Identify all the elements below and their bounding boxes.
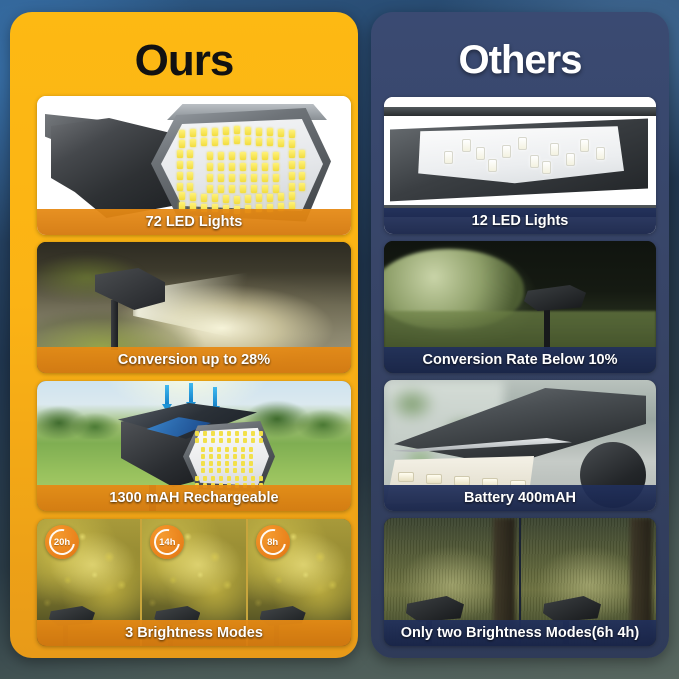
led <box>229 163 235 171</box>
led <box>195 438 199 443</box>
led <box>251 174 257 182</box>
led <box>207 174 213 182</box>
led <box>203 476 207 481</box>
led <box>240 163 246 171</box>
led <box>207 152 213 160</box>
led <box>187 172 193 180</box>
led <box>251 185 257 193</box>
others-panel: Others 12 LED Lights Conversion Ra <box>371 12 669 658</box>
led <box>289 172 295 180</box>
led <box>278 139 284 147</box>
ours-label-brightness: 3 Brightness Modes <box>37 620 351 646</box>
led <box>207 185 213 193</box>
led <box>211 476 215 481</box>
ours-panel-title: Ours <box>10 36 358 86</box>
sun-arrow-icon <box>165 385 169 405</box>
led <box>235 476 239 481</box>
led <box>289 192 295 200</box>
led <box>262 152 268 160</box>
led <box>299 161 305 169</box>
others-label-brightness: Only two Brightness Modes(6h 4h) <box>384 620 656 646</box>
led <box>211 431 215 436</box>
led <box>187 183 193 191</box>
led <box>273 185 279 193</box>
led <box>398 472 414 482</box>
others-label-battery: Battery 400mAH <box>384 485 656 511</box>
led <box>476 147 485 160</box>
others-card-brightness: Only two Brightness Modes(6h 4h) <box>384 518 656 646</box>
led <box>550 143 559 156</box>
led <box>227 476 231 481</box>
led <box>219 431 223 436</box>
led <box>235 431 239 436</box>
led <box>267 194 273 202</box>
led <box>218 174 224 182</box>
led <box>203 431 207 436</box>
led <box>502 145 511 158</box>
ours-label-led-count: 72 LED Lights <box>37 209 351 235</box>
led <box>518 137 527 150</box>
led <box>179 192 185 200</box>
led <box>566 153 575 166</box>
ours-card-battery: 1300 mAH Rechargeable <box>37 381 351 511</box>
led <box>596 147 605 160</box>
led <box>234 126 240 134</box>
led <box>444 151 453 164</box>
led <box>209 454 213 459</box>
led <box>249 461 253 466</box>
led <box>256 138 262 146</box>
led <box>289 140 295 148</box>
led <box>177 172 183 180</box>
led <box>240 152 246 160</box>
led <box>212 128 218 136</box>
led <box>259 438 263 443</box>
led <box>217 454 221 459</box>
runtime-badge-label: 8h <box>267 537 278 548</box>
led <box>426 474 442 484</box>
led <box>209 461 213 466</box>
led <box>225 447 229 452</box>
led <box>251 476 255 481</box>
others-card-conversion: Conversion Rate Below 10% <box>384 241 656 373</box>
led <box>233 447 237 452</box>
led <box>251 438 255 443</box>
led <box>217 461 221 466</box>
led <box>299 172 305 180</box>
led <box>245 127 251 135</box>
led <box>234 136 240 144</box>
led <box>273 163 279 171</box>
led <box>219 476 223 481</box>
led <box>179 140 185 148</box>
led <box>201 128 207 136</box>
runtime-badge-label: 14h <box>159 537 175 548</box>
led <box>190 129 196 137</box>
led <box>227 438 231 443</box>
led <box>223 127 229 135</box>
led <box>233 468 237 473</box>
led <box>207 163 213 171</box>
led <box>235 438 239 443</box>
led <box>211 438 215 443</box>
led <box>177 150 183 158</box>
led <box>201 454 205 459</box>
led <box>195 476 199 481</box>
led <box>209 468 213 473</box>
led <box>245 137 251 145</box>
led <box>243 476 247 481</box>
led <box>289 183 295 191</box>
others-label-conversion: Conversion Rate Below 10% <box>384 347 656 373</box>
led <box>243 431 247 436</box>
ours-label-battery: 1300 mAH Rechargeable <box>37 485 351 511</box>
runtime-badge-8h: 8h <box>256 525 290 559</box>
led <box>177 183 183 191</box>
led <box>201 468 205 473</box>
led <box>229 185 235 193</box>
led <box>240 185 246 193</box>
others-panel-title: Others <box>371 38 669 83</box>
led <box>225 454 229 459</box>
runtime-badge-label: 20h <box>54 537 70 548</box>
led <box>233 461 237 466</box>
led <box>542 161 551 174</box>
led <box>249 447 253 452</box>
led <box>229 174 235 182</box>
led <box>243 438 247 443</box>
ours-card-conversion: Conversion up to 28% <box>37 242 351 373</box>
led <box>267 128 273 136</box>
ours-panel: Ours 72 LED Lights <box>10 12 358 658</box>
sun-arrow-icon <box>213 387 217 407</box>
led <box>187 150 193 158</box>
led <box>299 150 305 158</box>
led <box>289 130 295 138</box>
led <box>251 163 257 171</box>
others-card-battery: Battery 400mAH <box>384 380 656 511</box>
runtime-badge-20h: 20h <box>45 525 79 559</box>
led <box>227 431 231 436</box>
led <box>249 468 253 473</box>
led <box>218 185 224 193</box>
led <box>241 447 245 452</box>
led <box>218 152 224 160</box>
led <box>229 152 235 160</box>
led <box>223 195 229 203</box>
led <box>190 139 196 147</box>
led <box>195 431 199 436</box>
led <box>201 194 207 202</box>
led <box>488 159 497 172</box>
sun-arrow-icon <box>189 383 193 403</box>
led <box>218 163 224 171</box>
led <box>245 195 251 203</box>
led <box>212 194 218 202</box>
led <box>225 468 229 473</box>
led <box>278 193 284 201</box>
led <box>217 468 221 473</box>
led <box>203 438 207 443</box>
led <box>187 161 193 169</box>
led <box>251 431 255 436</box>
led <box>267 138 273 146</box>
ours-card-led-count: 72 LED Lights <box>37 96 351 235</box>
ours-card-brightness: 20h 14h <box>37 519 351 646</box>
led <box>278 129 284 137</box>
led <box>179 130 185 138</box>
led <box>241 461 245 466</box>
led <box>217 447 221 452</box>
others-card-led-count: 12 LED Lights <box>384 97 656 234</box>
led <box>273 152 279 160</box>
led <box>177 161 183 169</box>
led <box>223 137 229 145</box>
led <box>249 454 253 459</box>
lamp-stake <box>111 300 118 350</box>
led <box>209 447 213 452</box>
led <box>299 183 305 191</box>
led <box>256 128 262 136</box>
led <box>240 174 246 182</box>
comparison-infographic: Ours 72 LED Lights <box>0 0 679 679</box>
led <box>201 138 207 146</box>
ours-label-conversion: Conversion up to 28% <box>37 347 351 373</box>
led <box>262 174 268 182</box>
led <box>225 461 229 466</box>
led <box>289 150 295 158</box>
led <box>262 163 268 171</box>
led <box>462 139 471 152</box>
others-label-led-count: 12 LED Lights <box>384 208 656 234</box>
led <box>201 447 205 452</box>
led <box>273 174 279 182</box>
led <box>241 468 245 473</box>
led <box>256 194 262 202</box>
led <box>233 454 237 459</box>
led <box>289 161 295 169</box>
led <box>234 196 240 204</box>
led <box>251 152 257 160</box>
led <box>212 138 218 146</box>
led <box>530 155 539 168</box>
led <box>259 431 263 436</box>
led <box>201 461 205 466</box>
led <box>259 476 263 481</box>
led <box>219 438 223 443</box>
led <box>580 139 589 152</box>
led <box>262 185 268 193</box>
led <box>190 193 196 201</box>
led <box>241 454 245 459</box>
